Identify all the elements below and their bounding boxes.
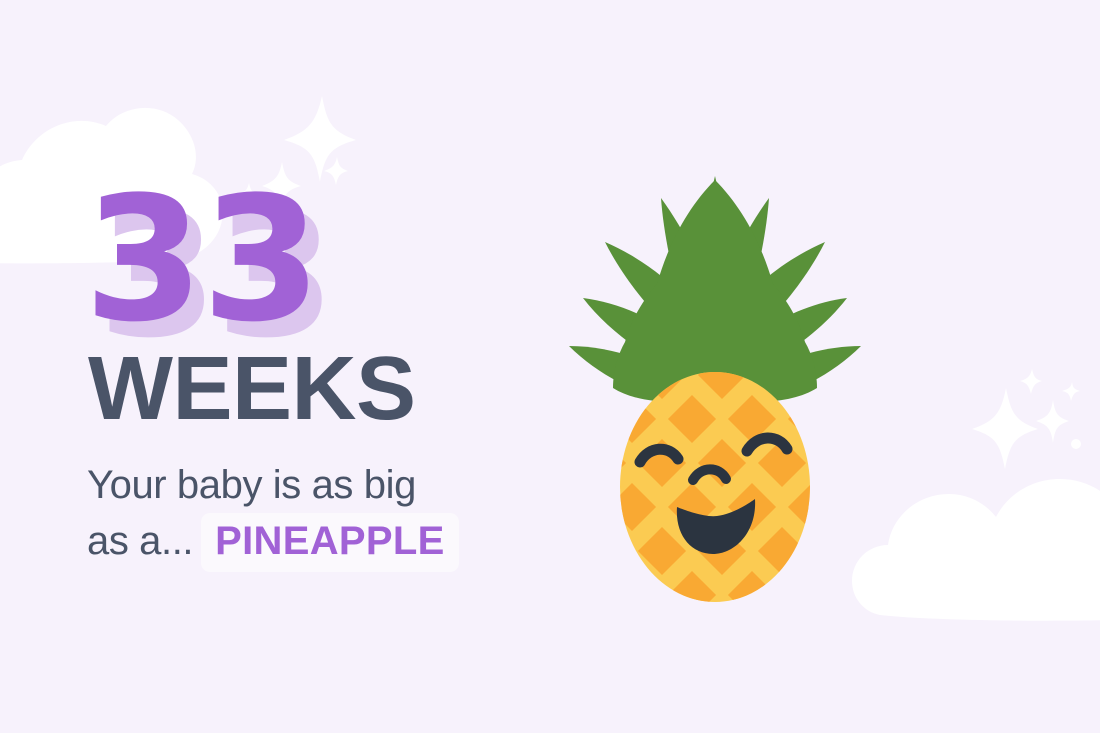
week-info-block: 33 WEEKS Your baby is as big as a...PINE… bbox=[84, 186, 554, 572]
pregnancy-week-card: 33 WEEKS Your baby is as big as a...PINE… bbox=[0, 0, 1100, 733]
comparison-fruit-badge: PINEAPPLE bbox=[201, 513, 458, 572]
tagline-prefix: as a... bbox=[87, 519, 193, 563]
pineapple-illustration bbox=[565, 150, 865, 630]
tagline-line-2: as a...PINEAPPLE bbox=[87, 513, 554, 572]
week-number: 33 bbox=[84, 186, 554, 334]
cloud-bottom-right-icon bbox=[852, 479, 1100, 621]
week-label: WEEKS bbox=[88, 344, 554, 434]
tagline-line-1: Your baby is as big bbox=[87, 460, 554, 511]
sparkles-right-icon bbox=[972, 369, 1081, 469]
pineapple-crown-icon bbox=[569, 176, 861, 402]
pineapple-body-icon bbox=[565, 351, 865, 619]
tagline: Your baby is as big as a...PINEAPPLE bbox=[87, 460, 554, 572]
